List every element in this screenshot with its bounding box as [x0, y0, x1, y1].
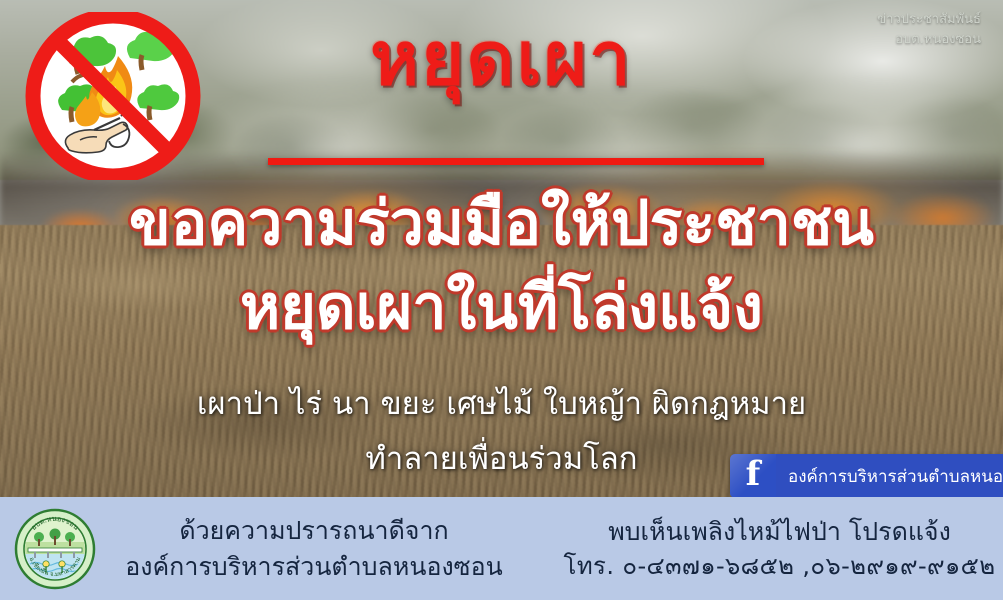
facebook-icon-letter: f: [746, 457, 761, 491]
main-message-line-1: ขอความร่วมมือให้ประชาชน: [0, 192, 1003, 257]
main-message-line-2: หยุดเผาในที่โล่งแจ้ง: [0, 276, 1003, 341]
footer-right-text: พบเห็นเพลิงไหม้ไฟป่า โปรดแจ้ง โทร. ๐-๔๓๗…: [556, 497, 1003, 600]
footer-bar: อบต.หนองซอน อ.เชียงยืน จ.มหาสารคาม ด้วยค…: [0, 497, 1003, 600]
red-divider: [268, 158, 764, 165]
footer-left-line-2: องค์การบริหารส่วนตำบลหนองซอน: [125, 549, 503, 585]
page-title-headline: หยุดเผา: [0, 22, 1003, 96]
footer-left-line-1: ด้วยความปรารถนาดีจาก: [179, 513, 448, 549]
emergency-phone-numbers: โทร. ๐-๔๓๗๑-๖๘๕๒ ,๐๖-๒๙๑๙-๙๑๕๒: [564, 549, 996, 583]
poster: ข่าวประชาสัมพันธ์ อบต.หนองซอน หยุดเผา ขอ…: [0, 0, 1003, 600]
sub-message-line-1: เผาป่า ไร่ นา ขยะ เศษไม้ ใบหญ้า ผิดกฎหมา…: [0, 385, 1003, 424]
facebook-icon[interactable]: f: [730, 454, 776, 498]
footer-left-text: ด้วยความปรารถนาดีจาก องค์การบริหารส่วนตำ…: [104, 497, 524, 600]
facebook-page-name: องค์การบริหารส่วนตำบลหนองซอน: [776, 454, 1003, 498]
facebook-badge[interactable]: f องค์การบริหารส่วนตำบลหนองซอน: [730, 454, 1003, 498]
seal-icon: อบต.หนองซอน อ.เชียงยืน จ.มหาสารคาม: [14, 508, 96, 590]
footer-right-line-1: พบเห็นเพลิงไหม้ไฟป่า โปรดแจ้ง: [608, 514, 951, 550]
municipality-seal: อบต.หนองซอน อ.เชียงยืน จ.มหาสารคาม: [14, 508, 96, 590]
